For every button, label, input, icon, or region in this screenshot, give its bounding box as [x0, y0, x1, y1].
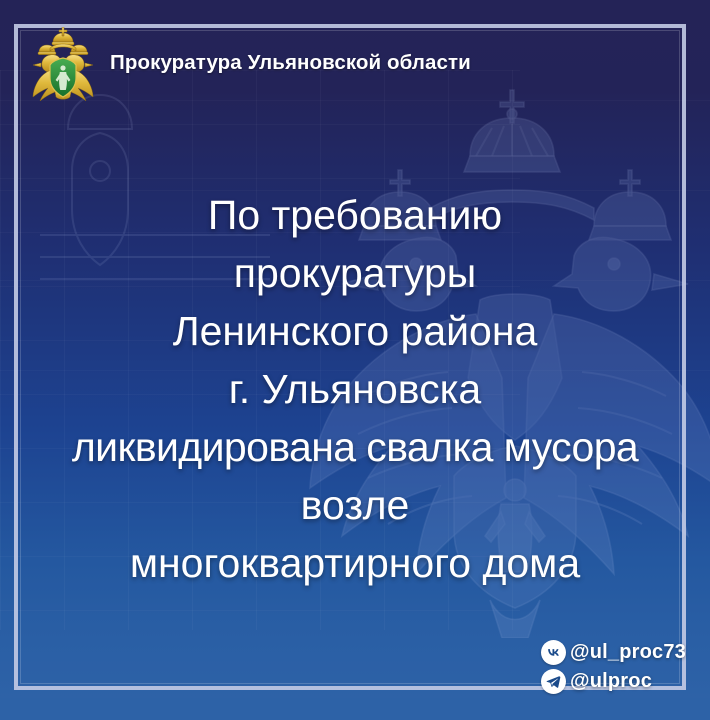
headline-line-2: прокуратуры [14, 244, 696, 302]
poster-root: Прокуратура Ульяновской области По требо… [0, 0, 710, 720]
vk-handle[interactable]: @ul_proc73 [570, 641, 686, 664]
header-bar: Прокуратура Ульяновской области [18, 28, 682, 98]
social-handles: @ul_proc73 @ulproc [541, 640, 686, 694]
headline-text: По требованию прокуратуры Ленинского рай… [14, 186, 696, 592]
telegram-handle[interactable]: @ulproc [570, 670, 652, 693]
header-title: Прокуратура Ульяновской области [110, 51, 471, 75]
headline-line-3: Ленинского района [14, 302, 696, 360]
social-row-telegram[interactable]: @ulproc [541, 669, 652, 694]
headline-line-5: ликвидирована свалка мусора [14, 418, 696, 476]
headline-line-4: г. Ульяновска [14, 360, 696, 418]
headline-line-7: многоквартирного дома [14, 534, 696, 592]
telegram-icon[interactable] [541, 669, 566, 694]
vk-icon[interactable] [541, 640, 566, 665]
headline-line-6: возле [14, 476, 696, 534]
prosecutor-emblem-icon [32, 27, 94, 101]
bottom-color-band [0, 698, 710, 720]
social-row-vk[interactable]: @ul_proc73 [541, 640, 686, 665]
headline-line-1: По требованию [14, 186, 696, 244]
